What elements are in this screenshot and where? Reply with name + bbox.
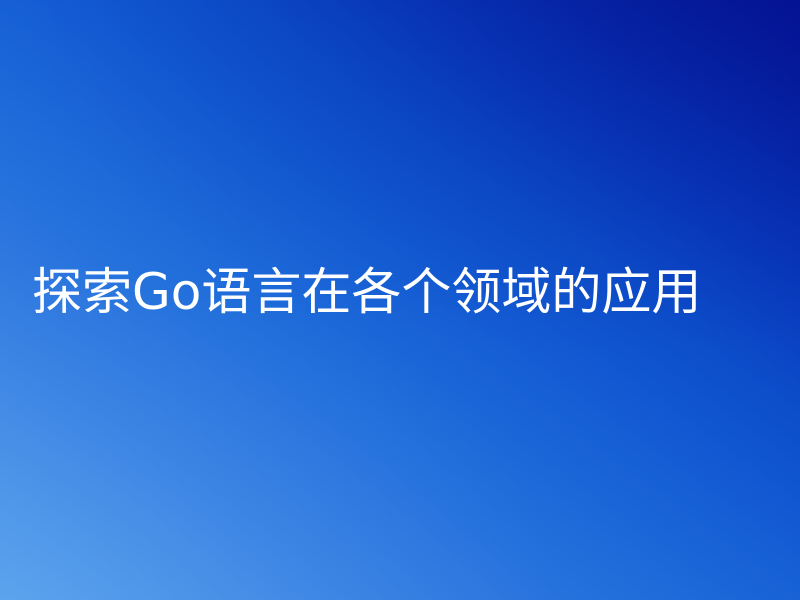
cover-title: 探索Go语言在各个领域的应用 (32, 248, 701, 336)
title-container: 探索Go语言在各个领域的应用 (0, 0, 800, 600)
title-cover-card: 探索Go语言在各个领域的应用 (0, 0, 800, 600)
